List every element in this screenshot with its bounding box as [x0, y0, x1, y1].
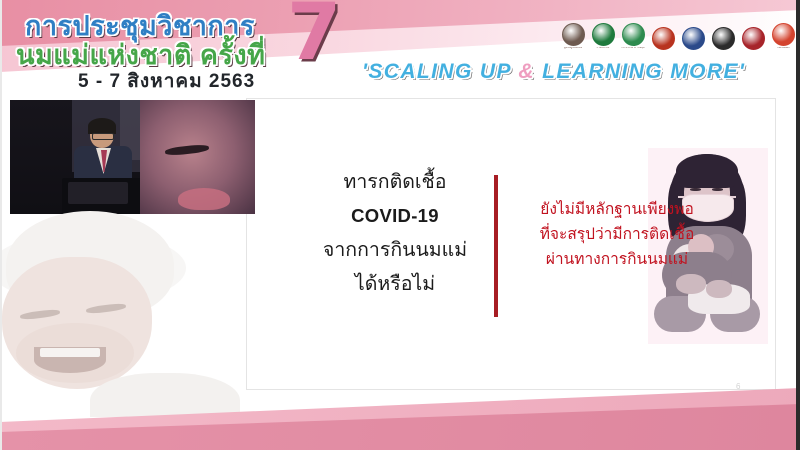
illustration-hand-left — [676, 274, 706, 294]
slide-frame-right-edge — [796, 0, 800, 450]
question-line-1: ทารกติดเชื้อ — [300, 165, 490, 200]
answer-line-2: ที่จะสรุปว่ามีการติดเชื้อ — [508, 222, 726, 247]
logo-emblem-icon — [742, 27, 765, 50]
illustration-hair-top — [676, 154, 738, 188]
question-line-2: COVID-19 — [300, 200, 490, 233]
watermark-shoulder — [90, 373, 240, 417]
red-vertical-divider — [494, 175, 498, 317]
logo-emblem-icon — [682, 27, 705, 50]
department-of-health-logo: กระทรวงสาธารณสุข — [620, 20, 646, 50]
question-line-4: ได้หรือไม่ — [300, 267, 490, 302]
red-seal-logo — [740, 20, 766, 50]
illustration-eye-left — [690, 188, 701, 191]
photo-speaker-glasses — [92, 133, 114, 140]
black-seal-logo — [710, 20, 736, 50]
watermark-teeth — [40, 348, 100, 357]
university-emblem-logo — [680, 20, 706, 50]
thai-breastfeeding-foundation-logo: มูลนิธิศูนย์นมแม่ — [560, 20, 586, 50]
photo-speaker-hair — [88, 118, 116, 134]
logo-emblem-icon — [592, 23, 615, 46]
conference-edition-number: 7 — [287, 0, 341, 72]
ministry-of-public-health-logo: กรมอนามัย — [590, 20, 616, 50]
thaihealth-sss-logo: Thai Health — [770, 20, 796, 50]
slide-frame-left-edge — [0, 0, 2, 450]
question-text-block: ทารกติดเชื้อ COVID-19 จากการกินนมแม่ ได้… — [300, 165, 490, 302]
tagline-part1: 'SCALING UP — [362, 60, 518, 83]
question-line-3: จากการกินนมแม่ — [300, 233, 490, 268]
page-number: 6 — [736, 382, 740, 391]
tagline-part2: LEARNING MORE' — [535, 60, 745, 83]
royal-emblem-logo — [650, 20, 676, 50]
logo-emblem-icon — [772, 23, 795, 46]
illustration-hand-right — [706, 280, 732, 298]
logo-caption: Thai Health — [770, 47, 796, 50]
organization-logo-strip: มูลนิธิศูนย์นมแม่กรมอนามัยกระทรวงสาธารณส… — [560, 20, 796, 50]
logo-emblem-icon — [622, 23, 645, 46]
conference-speaker-photo — [10, 100, 255, 214]
tagline-ampersand: & — [518, 60, 535, 83]
photo-laptop — [68, 182, 128, 204]
smiling-child-watermark — [0, 205, 254, 417]
illustration-eye-right — [712, 188, 723, 191]
logo-caption: มูลนิธิศูนย์นมแม่ — [560, 47, 586, 50]
presentation-slide: การประชุมวิชาการ นมแม่แห่งชาติ ครั้งที่ … — [0, 0, 800, 450]
logo-emblem-icon — [562, 23, 585, 46]
conference-date: 5 - 7 สิงหาคม 2563 — [78, 66, 255, 96]
logo-caption: กระทรวงสาธารณสุข — [620, 47, 646, 50]
logo-emblem-icon — [712, 27, 735, 50]
answer-line-1: ยังไม่มีหลักฐานเพียงพอ — [508, 197, 726, 222]
answer-line-3: ผ่านทางการกินนมแม่ — [508, 247, 726, 272]
answer-text-block: ยังไม่มีหลักฐานเพียงพอ ที่จะสรุปว่ามีการ… — [508, 197, 726, 272]
conference-tagline: 'SCALING UP & LEARNING MORE' — [362, 60, 745, 84]
logo-emblem-icon — [652, 27, 675, 50]
logo-caption: กรมอนามัย — [590, 47, 616, 50]
